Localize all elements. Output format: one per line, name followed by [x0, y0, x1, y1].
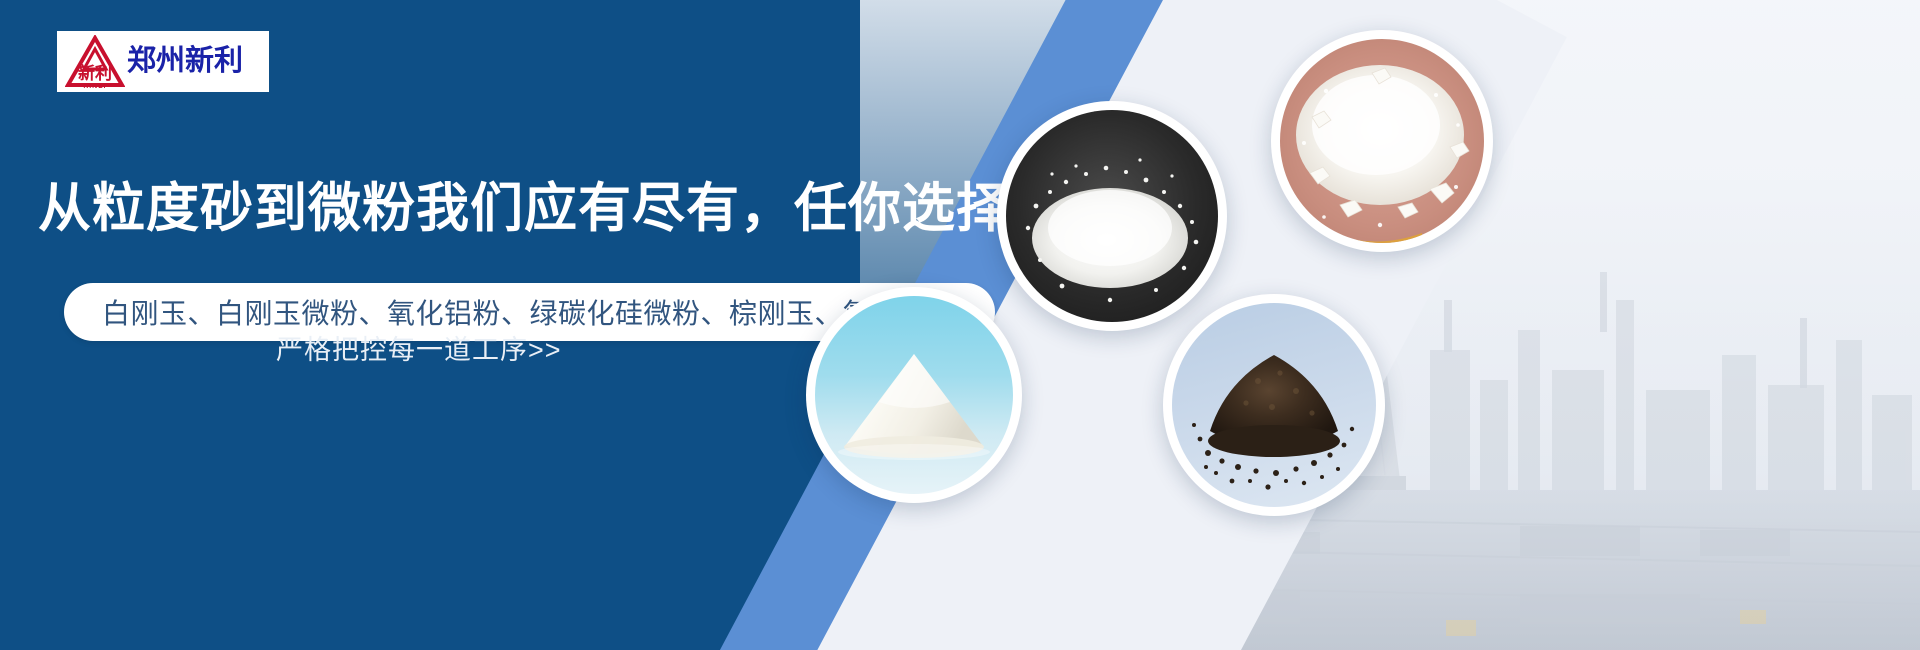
- product-photo-powder-cone-inner: [815, 296, 1013, 494]
- svg-text:新利: 新利: [78, 63, 112, 83]
- product-photo-white-grain[interactable]: [997, 101, 1227, 331]
- xinli-triangle-icon: 新利 XINLI: [65, 35, 125, 89]
- product-photo-brown-grain[interactable]: [1163, 294, 1385, 516]
- product-photo-white-powder[interactable]: [1271, 30, 1493, 252]
- svg-text:XINLI: XINLI: [84, 83, 107, 89]
- brown-grain-mound: [1172, 303, 1376, 507]
- company-logo[interactable]: 新利 XINLI 郑州新利: [57, 31, 269, 92]
- powder-cone-mound: [815, 296, 1013, 494]
- product-photo-white-powder-inner: [1280, 39, 1484, 243]
- product-photo-brown-grain-inner: [1172, 303, 1376, 507]
- product-photo-powder-cone[interactable]: [806, 287, 1022, 503]
- page-title: 从粒度砂到微粉我们应有尽有，任你选择: [38, 180, 1010, 238]
- logo-company-name: 郑州新利: [127, 46, 243, 76]
- product-photo-white-grain-inner: [1006, 110, 1218, 322]
- cta-link[interactable]: 严格把控每一道工序>>: [276, 328, 562, 367]
- white-grain-mound: [1006, 110, 1218, 322]
- white-powder-mound: [1280, 39, 1484, 243]
- promo-banner: 新利 XINLI 郑州新利 从粒度砂到微粉我们应有尽有，任你选择 白刚玉、白刚玉…: [0, 0, 1920, 650]
